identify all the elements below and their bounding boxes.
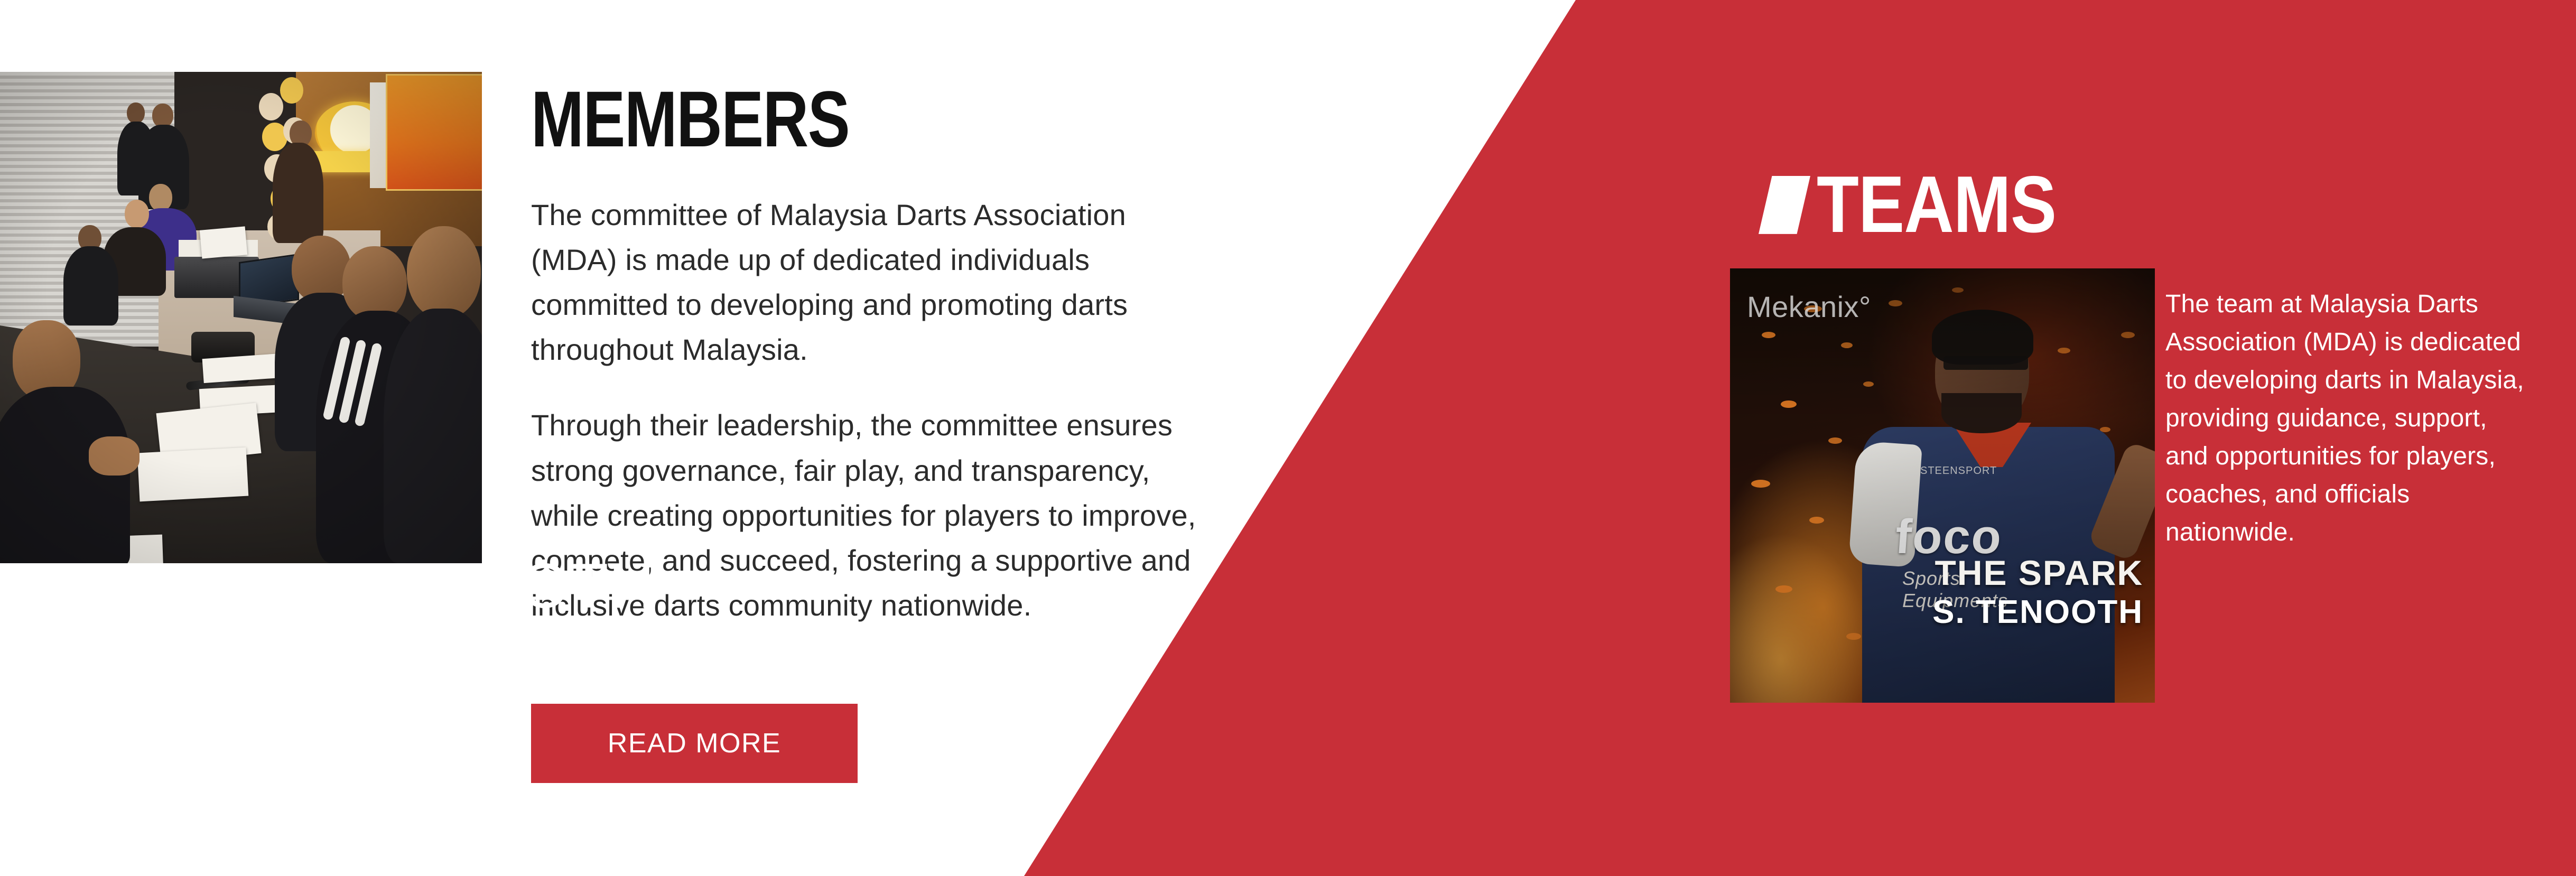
player-first-name: TENOOTH (126, 552, 655, 621)
card-watermark: Mekanix° (1747, 290, 1871, 324)
teams-heading-group: TEAMS (1759, 168, 2095, 242)
card-player-name: S. TENOOTH (1932, 595, 2143, 629)
player-name: TENOOTH SIVALINGAM (126, 552, 655, 689)
read-more-button[interactable]: READ MORE (531, 704, 858, 783)
teams-paragraph: The team at Malaysia Darts Association (… (2165, 285, 2525, 552)
card-nickname: THE SPARK (1935, 555, 2143, 591)
teams-heading: TEAMS (1817, 168, 2056, 242)
members-heading: MEMBERS (531, 79, 1076, 159)
read-more-label: READ MORE (608, 728, 781, 759)
player-card-overlay (1730, 268, 2155, 703)
teams-text-column: The team at Malaysia Darts Association (… (2165, 285, 2525, 552)
player-last-name: SIVALINGAM (126, 621, 655, 689)
player-photo-card: STEENSPORT foco Sports Equipments Mekani… (1730, 268, 2155, 703)
members-paragraph-1: The committee of Malaysia Darts Associat… (531, 192, 1213, 372)
page-root: MEMBERS The committee of Malaysia Darts … (0, 0, 2576, 876)
slash-accent-icon (1759, 176, 1810, 234)
photo-vignette (0, 72, 482, 563)
members-photo (0, 72, 482, 563)
members-photo-canvas (0, 72, 482, 563)
